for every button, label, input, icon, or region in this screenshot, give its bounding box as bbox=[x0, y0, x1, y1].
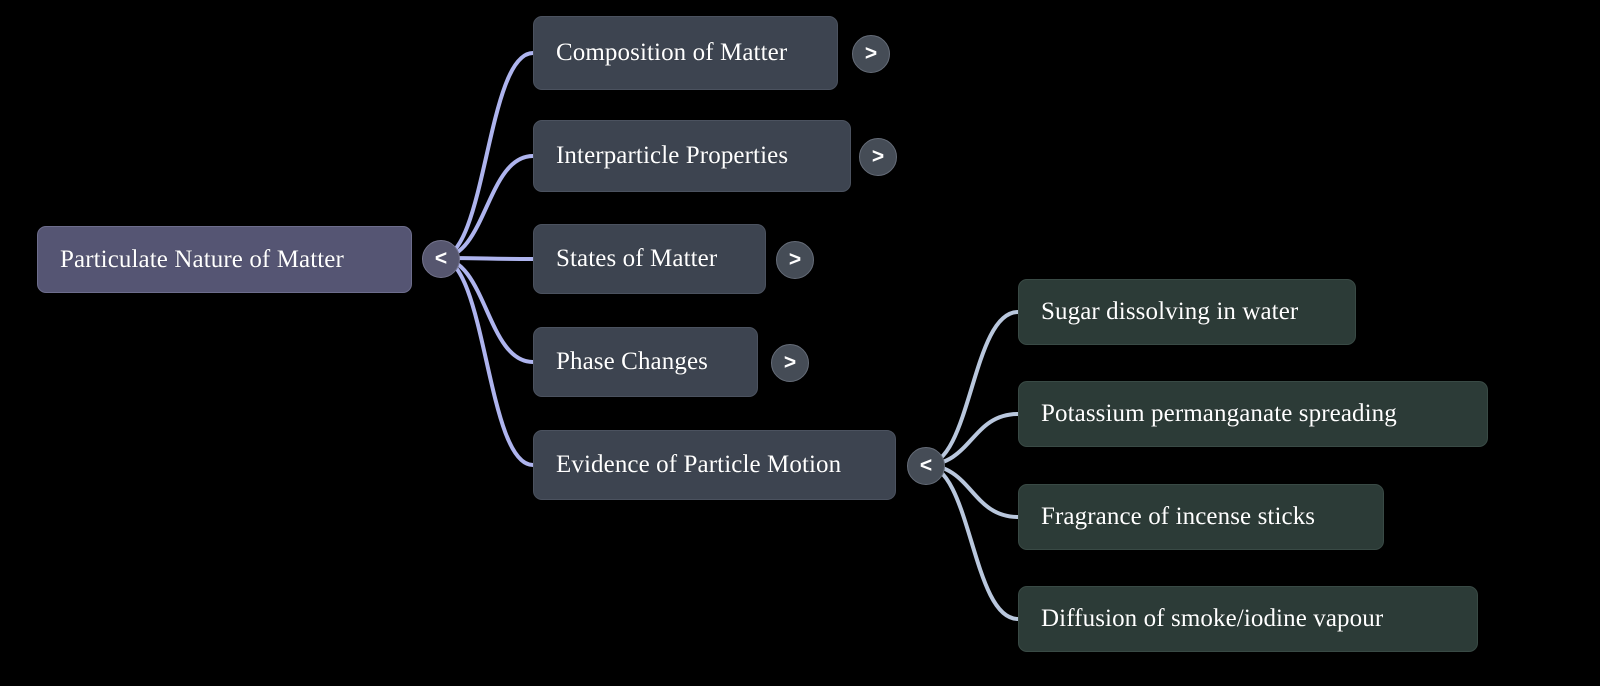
node-leaf-sugar-dissolving-in-water[interactable]: Sugar dissolving in water bbox=[1018, 279, 1356, 345]
toggle-branch-composition-of-matter[interactable]: > bbox=[852, 35, 890, 73]
toggle-branch-interparticle-properties[interactable]: > bbox=[859, 138, 897, 176]
chevron-right-icon: > bbox=[865, 42, 877, 66]
node-branch-states-of-matter[interactable]: States of Matter bbox=[533, 224, 766, 294]
node-leaf-fragrance-of-incense-sticks[interactable]: Fragrance of incense sticks bbox=[1018, 484, 1384, 550]
chevron-right-icon: > bbox=[789, 248, 801, 272]
toggle-root[interactable]: < bbox=[422, 240, 460, 278]
node-branch-evidence-of-particle-motion[interactable]: Evidence of Particle Motion bbox=[533, 430, 896, 500]
node-leaf-label: Fragrance of incense sticks bbox=[1041, 503, 1315, 531]
edge-layer bbox=[0, 0, 1600, 686]
node-root-label: Particulate Nature of Matter bbox=[60, 246, 344, 274]
mindmap-canvas: Particulate Nature of Matter < Compositi… bbox=[0, 0, 1600, 686]
node-branch-composition-of-matter[interactable]: Composition of Matter bbox=[533, 16, 838, 90]
node-branch-phase-changes[interactable]: Phase Changes bbox=[533, 327, 758, 397]
chevron-left-icon: < bbox=[920, 454, 932, 478]
toggle-branch-phase-changes[interactable]: > bbox=[771, 344, 809, 382]
node-branch-label: Composition of Matter bbox=[556, 39, 787, 67]
chevron-right-icon: > bbox=[784, 351, 796, 375]
chevron-right-icon: > bbox=[872, 145, 884, 169]
node-branch-label: Evidence of Particle Motion bbox=[556, 451, 841, 479]
chevron-left-icon: < bbox=[435, 247, 447, 271]
node-leaf-diffusion-of-smoke-iodine-vapour[interactable]: Diffusion of smoke/iodine vapour bbox=[1018, 586, 1478, 652]
node-branch-label: Phase Changes bbox=[556, 348, 708, 376]
node-branch-label: Interparticle Properties bbox=[556, 142, 788, 170]
node-branch-interparticle-properties[interactable]: Interparticle Properties bbox=[533, 120, 851, 192]
node-leaf-label: Diffusion of smoke/iodine vapour bbox=[1041, 605, 1383, 633]
node-leaf-potassium-permanganate-spreading[interactable]: Potassium permanganate spreading bbox=[1018, 381, 1488, 447]
node-leaf-label: Potassium permanganate spreading bbox=[1041, 400, 1397, 428]
node-branch-label: States of Matter bbox=[556, 245, 717, 273]
toggle-branch-evidence-of-particle-motion[interactable]: < bbox=[907, 447, 945, 485]
toggle-branch-states-of-matter[interactable]: > bbox=[776, 241, 814, 279]
node-root[interactable]: Particulate Nature of Matter bbox=[37, 226, 412, 293]
node-leaf-label: Sugar dissolving in water bbox=[1041, 298, 1298, 326]
